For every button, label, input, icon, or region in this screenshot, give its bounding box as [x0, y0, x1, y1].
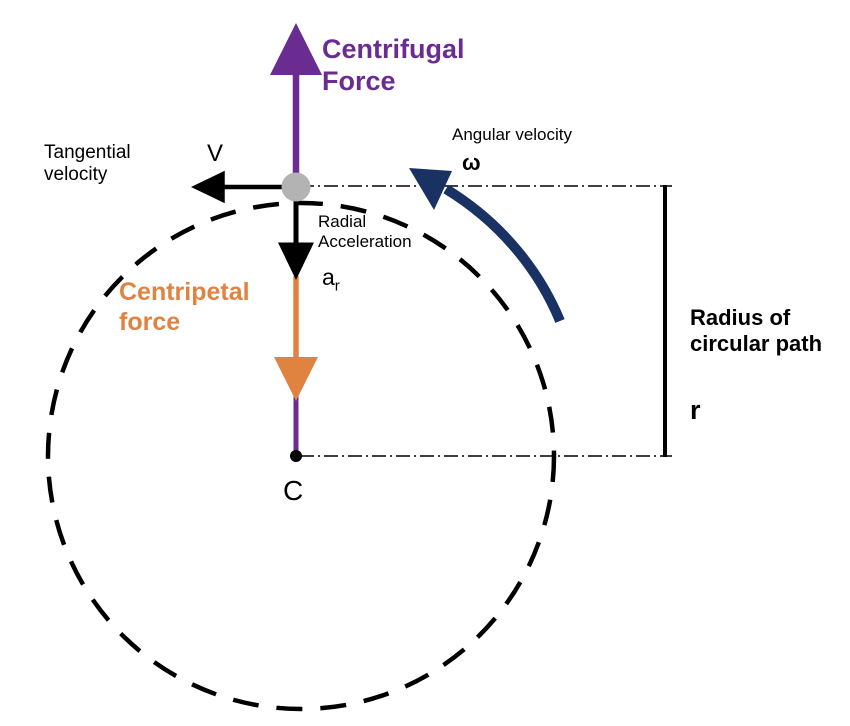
angular-velocity-arrowhead — [409, 168, 452, 210]
tangential-velocity-label: Tangential velocity — [44, 142, 131, 187]
center-symbol-label: C — [283, 474, 303, 507]
radial-acceleration-symbol-label: ar — [322, 264, 340, 295]
radial-acceleration-symbol-base: a — [322, 264, 335, 290]
radial-acceleration-symbol-sub: r — [335, 278, 340, 295]
angular-velocity-label: Angular velocity — [452, 125, 572, 145]
velocity-symbol-label: V — [207, 140, 223, 168]
radial-acceleration-label: Radial Acceleration — [318, 212, 412, 252]
physics-diagram-canvas: Centrifugal Force Tangential velocity V … — [0, 0, 850, 726]
centripetal-force-label: Centripetal force — [119, 278, 250, 337]
diagram-svg — [0, 0, 850, 726]
particle-marker — [282, 173, 310, 201]
centrifugal-force-label: Centrifugal Force — [322, 34, 465, 98]
radius-of-circular-path-label: Radius of circular path — [690, 305, 822, 357]
radius-symbol-label: r — [690, 395, 701, 427]
center-point-marker — [290, 450, 302, 462]
omega-symbol-label: ω — [462, 150, 481, 176]
